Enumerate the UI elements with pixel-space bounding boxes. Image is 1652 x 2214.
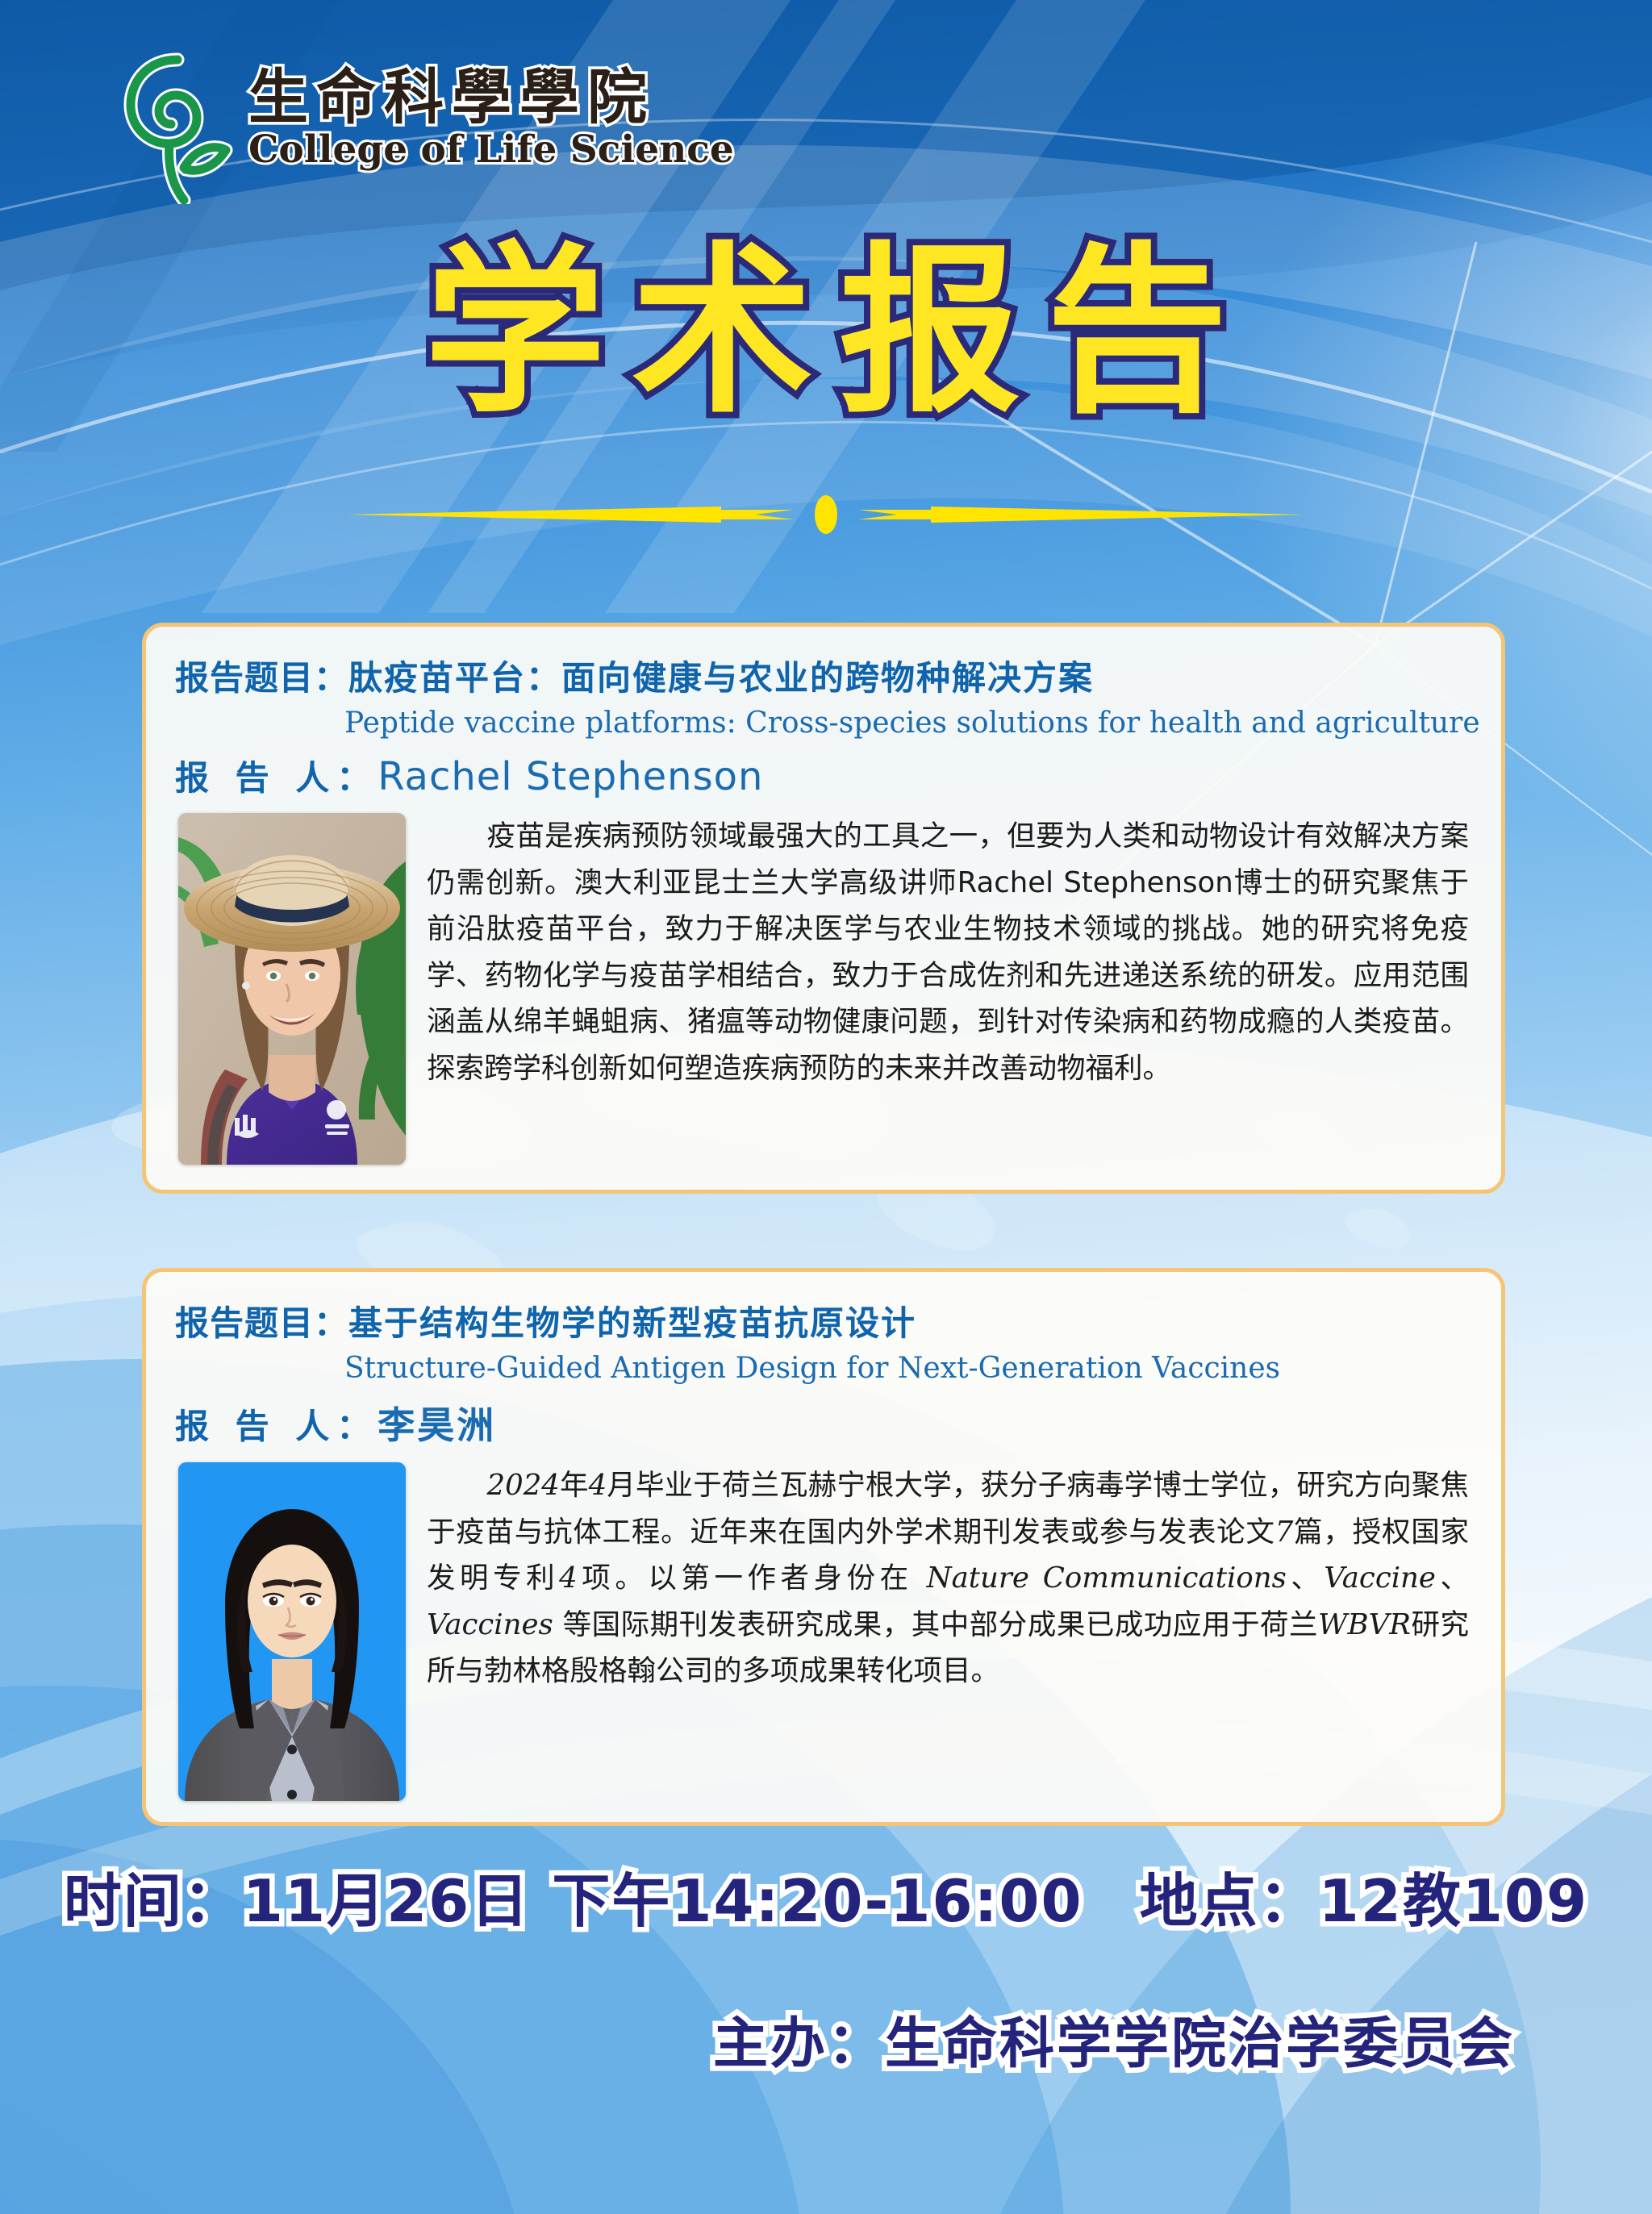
time-value: 11月26日 下午14:20-16:00: [243, 1867, 1083, 1935]
talk2-bio-text: 2024年4月毕业于荷兰瓦赫宁根大学，获分子病毒学博士学位，研究方向聚焦于疫苗与…: [427, 1469, 1469, 1687]
talk2-body: 2024年4月毕业于荷兰瓦赫宁根大学，获分子病毒学博士学位，研究方向聚焦于疫苗与…: [146, 1449, 1501, 1801]
talk1-speaker-name: Rachel Stephenson: [378, 754, 763, 799]
talk2-title-row: 报告题目： 基于结构生物学的新型疫苗抗原设计: [146, 1272, 1501, 1345]
talk1-speaker-row: 报 告 人： Rachel Stephenson: [146, 740, 1501, 800]
talk2-speaker-name: 李昊洲: [378, 1396, 496, 1449]
talk2-speaker-label: 报 告 人：: [175, 1399, 378, 1449]
time-and-place: 时间：11月26日 下午14:20-16:00地点：12教109: [0, 1853, 1652, 1938]
talk-card-1: 报告题目： 肽疫苗平台：面向健康与农业的跨物种解决方案 Peptide vacc…: [142, 623, 1505, 1194]
host-value: 生命科学学院治学委员会: [885, 2012, 1515, 2076]
talk1-bio-text: 疫苗是疾病预防领域最强大的工具之一，但要为人类和动物设计有效解决方案仍需创新。澳…: [427, 819, 1469, 1085]
talk2-title-cn: 基于结构生物学的新型疫苗抗原设计: [348, 1296, 916, 1345]
page-title: 学术报告: [0, 242, 1652, 423]
talk2-speaker-photo: [178, 1462, 406, 1801]
poster-root: 生命科學學院 College of Life Science 学术报告 报告题目…: [0, 0, 1652, 2214]
decorative-divider: [342, 477, 1310, 550]
page-title-text: 学术报告: [424, 227, 1254, 438]
talk-card-2: 报告题目： 基于结构生物学的新型疫苗抗原设计 Structure-Guided …: [142, 1268, 1505, 1826]
logo-english-name: College of Life Science: [248, 131, 734, 169]
talk2-title-en: Structure-Guided Antigen Design for Next…: [344, 1352, 1501, 1385]
host-line: 主办：生命科学学院治学委员会: [0, 1999, 1652, 2078]
college-logo: 生命科學學院 College of Life Science: [121, 47, 605, 208]
talk2-title-label: 报告题目：: [175, 1296, 348, 1345]
talk1-bio: 疫苗是疾病预防领域最强大的工具之一，但要为人类和动物设计有效解决方案仍需创新。澳…: [427, 813, 1469, 1165]
place-label: 地点：: [1140, 1867, 1319, 1935]
time-label: 时间：: [64, 1867, 243, 1935]
talk1-speaker-label: 报 告 人：: [175, 751, 378, 800]
talk2-bio: 2024年4月毕业于荷兰瓦赫宁根大学，获分子病毒学博士学位，研究方向聚焦于疫苗与…: [427, 1462, 1469, 1801]
talk1-title-cn: 肽疫苗平台：面向健康与农业的跨物种解决方案: [348, 651, 1094, 700]
logo-chinese-name: 生命科學學院: [248, 68, 734, 127]
green-sprout-spiral-icon: [121, 47, 234, 204]
talk1-title-en: Peptide vaccine platforms: Cross-species…: [344, 707, 1501, 740]
talk1-speaker-photo: [178, 813, 406, 1165]
talk1-title-row: 报告题目： 肽疫苗平台：面向健康与农业的跨物种解决方案: [146, 627, 1501, 700]
talk1-body: 疫苗是疾病预防领域最强大的工具之一，但要为人类和动物设计有效解决方案仍需创新。澳…: [146, 800, 1501, 1165]
host-label: 主办：: [713, 2012, 885, 2076]
place-value: 12教109: [1319, 1867, 1589, 1935]
talk2-speaker-row: 报 告 人： 李昊洲: [146, 1385, 1501, 1449]
talk1-title-label: 报告题目：: [175, 651, 348, 700]
